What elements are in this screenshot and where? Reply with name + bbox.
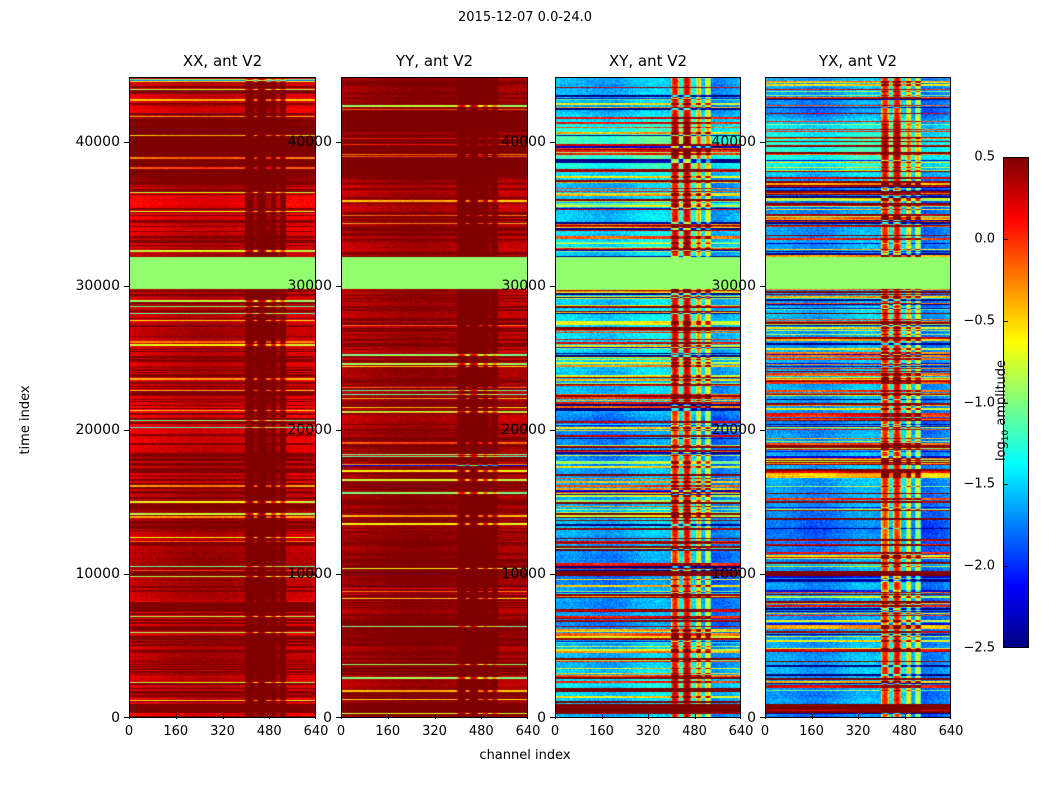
- heatmap-image-xy: [555, 77, 741, 718]
- y-tick-label: 20000: [501, 422, 546, 438]
- panel-title-yx: YX, ant V2: [765, 52, 951, 70]
- y-tick-label: 30000: [287, 278, 332, 294]
- y-tick-label: 30000: [711, 278, 756, 294]
- x-tick: [129, 714, 130, 719]
- y-tick: [124, 142, 129, 143]
- x-axis-label: channel index: [0, 748, 1050, 763]
- x-tick: [555, 714, 556, 719]
- y-tick-label: 0: [323, 710, 332, 726]
- x-tick: [602, 714, 603, 719]
- colorbar-tick: [1003, 484, 1008, 485]
- y-axis-label: time index: [18, 385, 33, 454]
- y-tick: [550, 286, 555, 287]
- panel-title-yy: YY, ant V2: [341, 52, 528, 70]
- x-tick: [341, 714, 342, 719]
- x-tick-label: 320: [210, 724, 235, 739]
- x-tick-label: 320: [422, 724, 447, 739]
- x-tick-label: 480: [469, 724, 494, 739]
- y-tick-label: 40000: [75, 134, 120, 150]
- y-tick-label: 0: [111, 710, 120, 726]
- panel-xy[interactable]: XY, ant V2016032048064001000020000300004…: [555, 77, 741, 718]
- colorbar-tick-label: −0.5: [963, 313, 995, 328]
- figure-canvas: 2015-12-07 0.0-24.0 time index channel i…: [0, 0, 1050, 800]
- y-tick-label: 10000: [711, 566, 756, 582]
- y-tick: [760, 286, 765, 287]
- y-tick: [550, 142, 555, 143]
- y-tick-label: 20000: [711, 422, 756, 438]
- y-tick: [550, 717, 555, 718]
- y-tick: [760, 430, 765, 431]
- x-tick-label: 320: [636, 724, 661, 739]
- y-tick-label: 10000: [75, 566, 120, 582]
- x-tick: [905, 714, 906, 719]
- colorbar-tick-label: −1.0: [963, 395, 995, 410]
- heatmap-image-yy: [341, 77, 528, 718]
- x-tick: [740, 714, 741, 719]
- x-tick-label: 480: [257, 724, 282, 739]
- y-tick-label: 0: [747, 710, 756, 726]
- heatmap-image-yx: [765, 77, 951, 718]
- y-tick-label: 40000: [287, 134, 332, 150]
- y-tick-label: 20000: [287, 422, 332, 438]
- x-tick-label: 160: [163, 724, 188, 739]
- y-tick: [550, 574, 555, 575]
- x-tick: [858, 714, 859, 719]
- y-tick-label: 10000: [287, 566, 332, 582]
- colorbar-tick: [1003, 157, 1008, 158]
- y-tick-label: 10000: [501, 566, 546, 582]
- y-tick-label: 0: [537, 710, 546, 726]
- x-tick: [950, 714, 951, 719]
- y-tick: [124, 574, 129, 575]
- x-tick: [695, 714, 696, 719]
- colorbar-label-tail: amplitude: [994, 359, 1009, 429]
- x-tick: [812, 714, 813, 719]
- y-tick-label: 30000: [75, 278, 120, 294]
- panel-xx[interactable]: XX, ant V2016032048064001000020000300004…: [129, 77, 316, 718]
- x-tick-label: 320: [846, 724, 871, 739]
- x-tick: [315, 714, 316, 719]
- y-tick: [760, 142, 765, 143]
- colorbar-tick-label: 0.5: [974, 150, 995, 165]
- x-tick-label: 160: [799, 724, 824, 739]
- colorbar[interactable]: log10 amplitude 0.50.0−0.5−1.0−1.5−2.0−2…: [1003, 157, 1029, 648]
- x-tick-label: 0: [337, 724, 345, 739]
- x-tick: [269, 714, 270, 719]
- colorbar-tick: [1003, 239, 1008, 240]
- y-tick-label: 30000: [501, 278, 546, 294]
- y-tick: [336, 286, 341, 287]
- y-tick: [760, 574, 765, 575]
- colorbar-tick-label: −2.5: [963, 641, 995, 656]
- colorbar-tick-label: 0.0: [974, 231, 995, 246]
- colorbar-label-text: log: [994, 441, 1009, 461]
- heatmap-image-xx: [129, 77, 316, 718]
- colorbar-tick: [1003, 647, 1008, 648]
- figure-suptitle: 2015-12-07 0.0-24.0: [0, 10, 1050, 25]
- x-tick: [176, 714, 177, 719]
- panel-title-xy: XY, ant V2: [555, 52, 741, 70]
- colorbar-tick: [1003, 321, 1008, 322]
- colorbar-label-subscript: 10: [1001, 429, 1011, 440]
- colorbar-label: log10 amplitude: [994, 359, 1009, 460]
- y-tick-label: 40000: [711, 134, 756, 150]
- x-tick-label: 640: [516, 724, 541, 739]
- panel-title-xx: XX, ant V2: [129, 52, 316, 70]
- x-tick: [223, 714, 224, 719]
- x-tick-label: 640: [939, 724, 964, 739]
- y-tick: [336, 430, 341, 431]
- colorbar-tick-label: −2.0: [963, 559, 995, 574]
- panel-yx[interactable]: YX, ant V2016032048064001000020000300004…: [765, 77, 951, 718]
- x-tick-label: 640: [304, 724, 329, 739]
- x-tick-label: 0: [551, 724, 559, 739]
- panel-yy[interactable]: YY, ant V2016032048064001000020000300004…: [341, 77, 528, 718]
- y-tick: [760, 717, 765, 718]
- x-tick: [648, 714, 649, 719]
- x-tick: [481, 714, 482, 719]
- x-tick: [435, 714, 436, 719]
- y-tick: [336, 717, 341, 718]
- y-tick: [124, 286, 129, 287]
- colorbar-tick: [1003, 566, 1008, 567]
- x-tick-label: 480: [682, 724, 707, 739]
- x-tick-label: 480: [892, 724, 917, 739]
- x-tick-label: 160: [589, 724, 614, 739]
- y-tick: [550, 430, 555, 431]
- y-tick: [336, 574, 341, 575]
- x-tick-label: 640: [729, 724, 754, 739]
- y-tick: [124, 430, 129, 431]
- y-tick: [124, 717, 129, 718]
- y-tick: [336, 142, 341, 143]
- y-tick-label: 20000: [75, 422, 120, 438]
- y-tick-label: 40000: [501, 134, 546, 150]
- x-tick-label: 160: [375, 724, 400, 739]
- x-tick: [527, 714, 528, 719]
- x-tick: [765, 714, 766, 719]
- x-tick: [388, 714, 389, 719]
- colorbar-tick: [1003, 403, 1008, 404]
- x-tick-label: 0: [761, 724, 769, 739]
- x-tick-label: 0: [125, 724, 133, 739]
- colorbar-tick-label: −1.5: [963, 477, 995, 492]
